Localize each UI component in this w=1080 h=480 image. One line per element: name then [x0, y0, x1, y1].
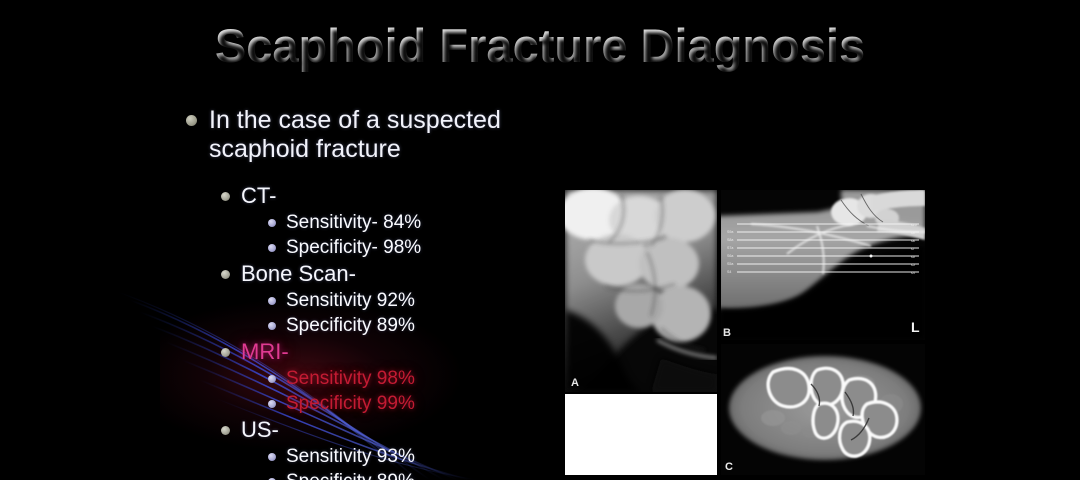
axial-ct-image: C [721, 344, 925, 475]
svg-text:B: B [723, 327, 731, 339]
figure-panel-a: A [565, 190, 717, 392]
stat-label: Specificity- 98% [286, 235, 421, 260]
stat-label: Sensitivity- 84% [286, 210, 421, 235]
wrist-radiograph-image: A [565, 190, 717, 392]
bullet-dot-icon [268, 453, 276, 461]
stat-item: Sensitivity 92% [268, 288, 566, 313]
bullet-list: In the case of a suspected scaphoid frac… [186, 106, 566, 480]
bullet-dot-icon [268, 400, 276, 408]
modality-us-label: US- [241, 416, 279, 444]
stat-label: Specificity 89% [286, 313, 415, 338]
bullet-dot-icon [268, 244, 276, 252]
bullet-dot-icon [221, 192, 230, 201]
svg-text:s4: s4 [911, 271, 915, 275]
bullet-dot-icon [268, 297, 276, 305]
stat-item: Specificity- 98% [268, 235, 566, 260]
modality-us: US- [221, 416, 566, 444]
svg-text:C: C [725, 461, 733, 473]
stat-label: Sensitivity 92% [286, 288, 415, 313]
bullet-dot-icon [221, 270, 230, 279]
medical-figure: A [565, 190, 925, 475]
svg-text:S9a: S9a [727, 230, 733, 234]
slide-title: Scaphoid Fracture Diagnosis [0, 18, 1080, 73]
stat-label: Specificity 89% [286, 469, 415, 480]
stat-item: Specificity 89% [268, 313, 566, 338]
ct-scout-image: S9aS8aS7a S6aS5aS4 s10s9s8 s7s6s5 s4 B L [721, 190, 925, 340]
svg-text:A: A [571, 377, 579, 389]
modality-bone-scan-label: Bone Scan- [241, 260, 356, 288]
figure-panel-c: C [721, 344, 925, 475]
svg-text:s5: s5 [911, 263, 915, 267]
svg-text:L: L [911, 319, 920, 335]
svg-text:s6: s6 [911, 255, 915, 259]
svg-text:S5a: S5a [727, 262, 733, 266]
bullet-dot-icon [268, 322, 276, 330]
bullet-dot-icon [221, 348, 230, 357]
svg-text:s9: s9 [911, 231, 915, 235]
bullet-dot-icon [186, 115, 197, 126]
figure-panel-a-blank-area [565, 394, 717, 475]
modality-mri-label: MRI- [241, 338, 289, 366]
intro-line-2: scaphoid fracture [209, 135, 401, 163]
svg-text:s7: s7 [911, 247, 915, 251]
slide-canvas: Scaphoid Fracture Diagnosis In the case … [0, 0, 1080, 480]
bullet-dot-icon [268, 219, 276, 227]
figure-panel-b: S9aS8aS7a S6aS5aS4 s10s9s8 s7s6s5 s4 B L [721, 190, 925, 340]
intro-line-1: In the case of a suspected [209, 106, 501, 134]
modality-ct-label: CT- [241, 182, 276, 210]
stat-item: Sensitivity 93% [268, 444, 566, 469]
svg-text:S6a: S6a [727, 254, 733, 258]
modality-ct: CT- [221, 182, 566, 210]
stat-item: Specificity 89% [268, 469, 566, 480]
bullet-intro-label: In the case of a suspected scaphoid frac… [209, 106, 501, 164]
svg-text:s10: s10 [911, 223, 917, 227]
modality-bone-scan: Bone Scan- [221, 260, 566, 288]
modality-mri: MRI- [221, 338, 566, 366]
svg-text:S7a: S7a [727, 246, 733, 250]
bullet-intro: In the case of a suspected scaphoid frac… [186, 106, 566, 164]
svg-text:s8: s8 [911, 239, 915, 243]
stat-item: Sensitivity- 84% [268, 210, 566, 235]
stat-item: Sensitivity 98% [268, 366, 566, 391]
stat-label: Sensitivity 93% [286, 444, 415, 469]
bullet-dot-icon [268, 375, 276, 383]
svg-text:S4: S4 [727, 270, 731, 274]
bullet-dot-icon [221, 426, 230, 435]
stat-label: Sensitivity 98% [286, 366, 415, 391]
svg-text:S8a: S8a [727, 238, 733, 242]
stat-item: Specificity 99% [268, 391, 566, 416]
stat-label: Specificity 99% [286, 391, 415, 416]
